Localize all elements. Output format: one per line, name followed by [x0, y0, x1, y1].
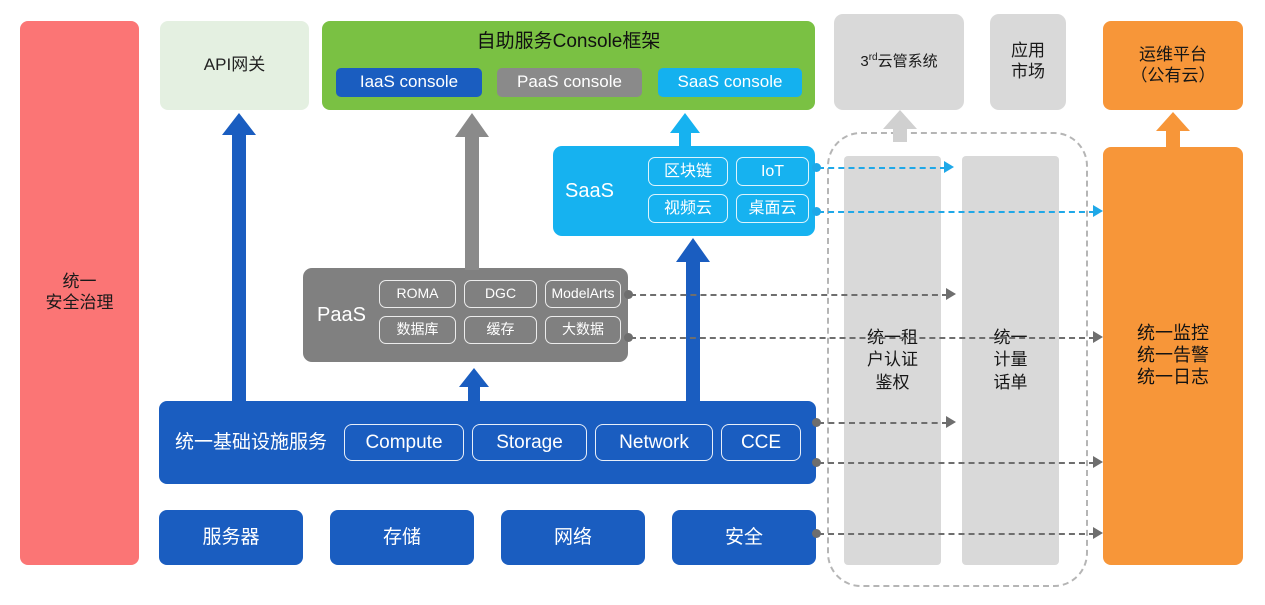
third-party-label: 3rd云管系统 [860, 52, 937, 71]
connector-resource-to-ops [818, 533, 1095, 535]
security-governance-panel: 统一 安全治理 [20, 21, 139, 565]
iaas-console-chip[interactable]: IaaS console [336, 68, 482, 97]
unified-infrastructure-panel: 统一基础设施服务 Compute Storage Network CCE [159, 401, 816, 484]
infra-item-cce[interactable]: CCE [721, 424, 801, 461]
ops-monitoring-alarm-log-panel: 统一监控 统一告警 统一日志 [1103, 147, 1243, 565]
saas-item-desktop-cloud[interactable]: 桌面云 [736, 194, 809, 223]
saas-item-iot[interactable]: IoT [736, 157, 809, 186]
infra-item-network[interactable]: Network [595, 424, 713, 461]
saas-item-blockchain[interactable]: 区块链 [648, 157, 728, 186]
third-party-cloud-mgmt-box: 3rd云管系统 [834, 14, 964, 110]
connector-arrowhead-saas-to-ops [1093, 205, 1103, 217]
resource-box-network[interactable]: 网络 [501, 510, 645, 565]
resource-box-storage[interactable]: 存储 [330, 510, 474, 565]
paas-item-bigdata[interactable]: 大数据 [545, 316, 621, 344]
arrow-infra-to-saas [676, 238, 710, 403]
arrow-infra-to-apigw [222, 113, 256, 403]
connector-saas-to-auth [818, 167, 946, 169]
saas-console-chip[interactable]: SaaS console [658, 68, 802, 97]
paas-item-cache[interactable]: 缓存 [464, 316, 537, 344]
resource-box-security[interactable]: 安全 [672, 510, 816, 565]
connector-arrowhead-resource-to-ops [1093, 527, 1103, 539]
saas-layer-panel: SaaS 区块链 IoT 视频云 桌面云 [553, 146, 815, 236]
arrow-infra-to-paas [459, 368, 489, 403]
api-gateway-box: API网关 [160, 21, 309, 110]
paas-item-roma[interactable]: ROMA [379, 280, 456, 308]
arrow-saas-to-console [670, 113, 700, 149]
connector-arrowhead-infra-to-auth [946, 416, 956, 428]
app-market-box: 应用 市场 [990, 14, 1066, 110]
resource-box-server[interactable]: 服务器 [159, 510, 303, 565]
connector-arrowhead-infra-to-ops [1093, 456, 1103, 468]
paas-layer-panel: PaaS ROMA DGC ModelArts 数据库 缓存 大数据 [303, 268, 628, 362]
infra-item-compute[interactable]: Compute [344, 424, 464, 461]
paas-item-database[interactable]: 数据库 [379, 316, 456, 344]
unified-metering-billing-column: 统一 计量 话单 [962, 156, 1059, 565]
infrastructure-label: 统一基础设施服务 [175, 401, 327, 484]
connector-paas-to-ops [630, 337, 1095, 339]
connector-arrowhead-paas-to-auth [946, 288, 956, 300]
paas-item-modelarts[interactable]: ModelArts [545, 280, 621, 308]
connector-arrowhead-paas-to-ops [1093, 331, 1103, 343]
connector-infra-to-ops [818, 462, 1095, 464]
saas-layer-label: SaaS [565, 146, 614, 236]
saas-item-video-cloud[interactable]: 视频云 [648, 194, 728, 223]
infra-item-storage[interactable]: Storage [472, 424, 587, 461]
paas-layer-label: PaaS [317, 268, 366, 362]
arrow-ops-body-to-ops-top [1156, 112, 1190, 148]
unified-tenant-auth-column: 统一租 户认证 鉴权 [844, 156, 941, 565]
connector-saas-to-ops [818, 211, 1095, 213]
architecture-diagram: 统一 安全治理 API网关 自助服务Console框架 IaaS console… [0, 0, 1265, 605]
console-framework-panel: 自助服务Console框架 IaaS console PaaS console … [322, 21, 815, 110]
paas-console-chip[interactable]: PaaS console [497, 68, 642, 97]
connector-arrowhead-saas-to-auth [944, 161, 954, 173]
connector-infra-to-auth [818, 422, 948, 424]
ops-platform-public-cloud-box: 运维平台 （公有云） [1103, 21, 1243, 110]
connector-paas-to-auth [630, 294, 948, 296]
arrow-paas-to-console [455, 113, 489, 270]
console-framework-title: 自助服务Console框架 [322, 30, 815, 53]
arrow-shared-to-third-party [883, 110, 917, 142]
paas-item-dgc[interactable]: DGC [464, 280, 537, 308]
